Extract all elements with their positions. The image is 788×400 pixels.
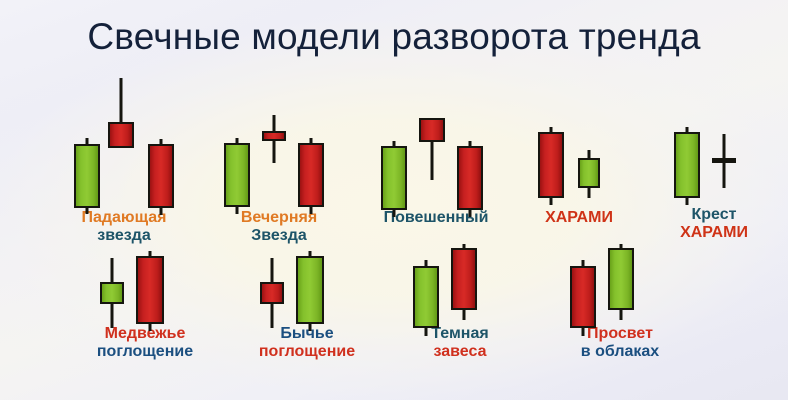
candle-bullish-second (608, 248, 634, 310)
candle-bearish-first (570, 266, 596, 328)
candle-body-bearish (570, 266, 596, 328)
candle-group (668, 128, 758, 214)
candle-doji-cross (712, 134, 736, 188)
candle-group (90, 252, 200, 330)
pattern-label-hanging-man: Повешенный (356, 209, 516, 227)
pattern-harami-cross (668, 128, 758, 214)
candle-body-bullish (578, 158, 600, 188)
candle-body-bearish (262, 131, 286, 141)
label-line-1: Темная (382, 325, 538, 343)
label-line-1: Бычье (212, 325, 402, 343)
candle-body-bearish (451, 248, 477, 310)
pattern-bearish-engulfing (90, 252, 200, 330)
label-line-1: Повешенный (356, 209, 516, 227)
pattern-falling-star (58, 78, 190, 208)
label-line-2: поглощение (212, 343, 402, 361)
candle-body-bullish (100, 282, 124, 304)
candle-body-bearish (260, 282, 284, 304)
pattern-bullish-engulfing (250, 252, 360, 330)
candle-bearish-engulfing (136, 256, 164, 324)
candle-bearish-hanging-man (419, 118, 445, 180)
candle-bullish-first (74, 144, 100, 208)
candle-bearish-small (260, 282, 284, 304)
pattern-label-evening-star: Вечерняя Звезда (198, 209, 360, 245)
candle-body-bearish (457, 146, 483, 210)
candle-group (562, 248, 672, 330)
candle-bullish-first (413, 266, 439, 328)
candle-bearish-mother (538, 132, 564, 198)
candle-bullish-first (381, 146, 407, 210)
pattern-label-piercing-line: Просвет в облаках (538, 325, 702, 361)
candle-body-bullish (74, 144, 100, 208)
candle-bullish-small (100, 282, 124, 304)
candle-body-bearish (108, 122, 134, 148)
candle-wick (120, 78, 123, 126)
pattern-label-falling-star: Падающая звезда (38, 209, 210, 245)
candle-bullish-first (224, 143, 250, 207)
candle-bearish-star (108, 78, 134, 140)
candle-bullish-mother (674, 132, 700, 198)
candle-group (250, 252, 360, 330)
candle-bearish-second (451, 248, 477, 310)
candle-bearish-doji-star (262, 115, 286, 165)
label-line-2: Звезда (198, 227, 360, 245)
pattern-evening-star (218, 110, 340, 210)
page-title: Свечные модели разворота тренда (0, 16, 788, 58)
label-line-2: звезда (38, 227, 210, 245)
candle-bearish-third (457, 146, 483, 210)
candle-group (218, 110, 340, 210)
candle-bullish-inside (578, 158, 600, 188)
candle-body-bearish (136, 256, 164, 324)
label-line-1: Просвет (538, 325, 702, 343)
pattern-hanging-man (375, 118, 497, 214)
candle-body-bullish (296, 256, 324, 324)
label-line-1: Падающая (38, 209, 210, 227)
candle-body-bullish (381, 146, 407, 210)
pattern-piercing-line (562, 248, 672, 330)
candle-body-bearish (419, 118, 445, 142)
candle-bullish-engulfing (296, 256, 324, 324)
pattern-label-bullish-engulfing: Бычье поглощение (212, 325, 402, 361)
label-line-1: Вечерняя (198, 209, 360, 227)
candle-body-bullish (674, 132, 700, 198)
candle-body-bullish (413, 266, 439, 328)
label-line-2: ХАРАМИ (650, 224, 778, 242)
candle-body-bearish (538, 132, 564, 198)
candle-bearish-third (298, 143, 324, 207)
pattern-label-dark-cloud-cover: Темная завеса (382, 325, 538, 361)
candle-body-bullish (608, 248, 634, 310)
pattern-harami (530, 128, 630, 214)
candle-group (58, 78, 190, 208)
pattern-label-harami: ХАРАМИ (512, 209, 646, 227)
candle-body-bullish (224, 143, 250, 207)
candle-body-bearish (298, 143, 324, 207)
pattern-label-harami-cross: Крест ХАРАМИ (650, 206, 778, 242)
infographic-canvas: Свечные модели разворота тренда Падающая… (0, 0, 788, 400)
label-line-2: завеса (382, 343, 538, 361)
candle-body-bearish (148, 144, 174, 208)
candle-bearish-third (148, 144, 174, 208)
label-line-2: в облаках (538, 343, 702, 361)
candle-group (375, 118, 497, 214)
candle-group (405, 248, 515, 330)
candle-group (530, 128, 630, 214)
label-line-1: Крест (650, 206, 778, 224)
doji-body-line (712, 158, 736, 163)
pattern-dark-cloud-cover (405, 248, 515, 330)
label-line-1: ХАРАМИ (512, 209, 646, 227)
